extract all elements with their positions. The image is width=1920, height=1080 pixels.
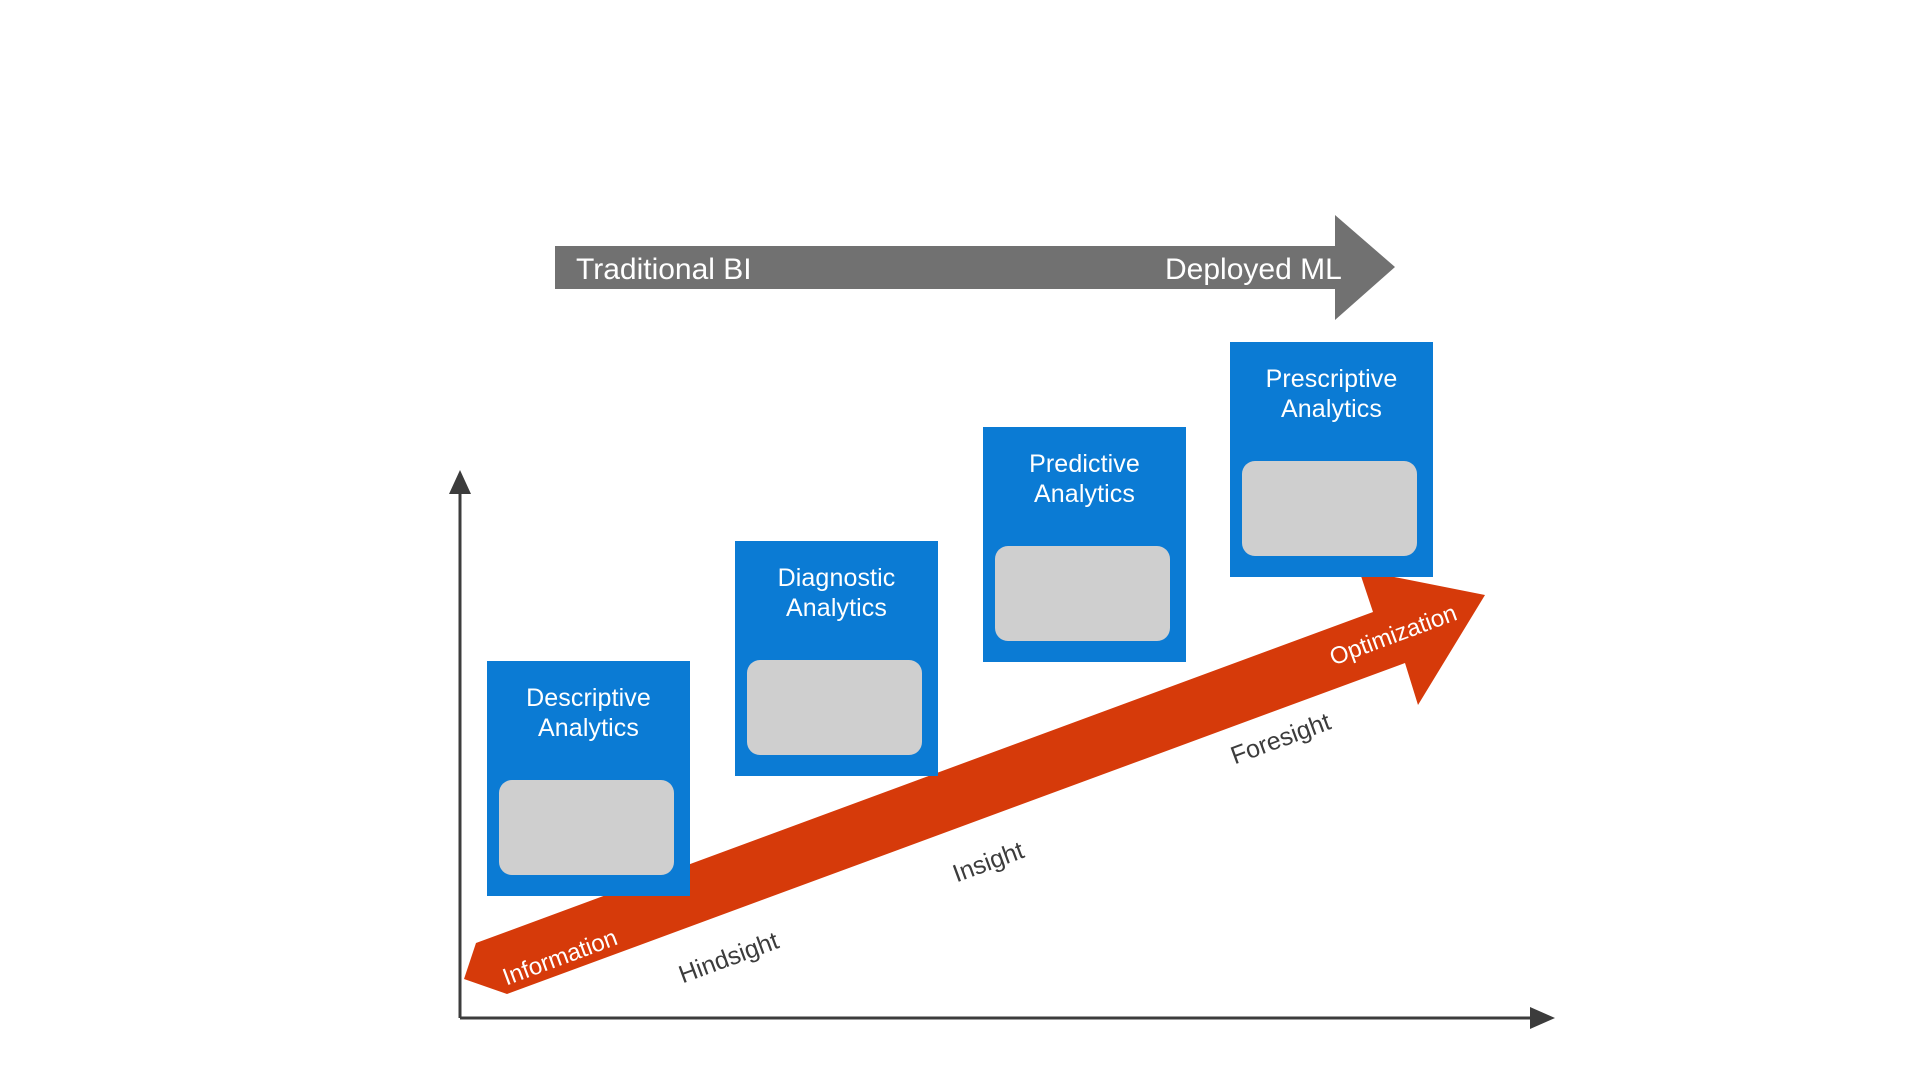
stage-box-predictive[interactable]: Predictive Analytics xyxy=(983,427,1186,662)
stage-title-diagnostic: Diagnostic Analytics xyxy=(735,563,938,623)
stage-image-placeholder-predictive xyxy=(995,546,1170,641)
stage-box-descriptive[interactable]: Descriptive Analytics xyxy=(487,661,690,896)
right-arrow-icon xyxy=(1530,1007,1555,1029)
stage-image-placeholder-prescriptive xyxy=(1242,461,1417,556)
traditional-bi-label: Traditional BI xyxy=(576,253,752,287)
up-arrow-icon xyxy=(449,470,471,494)
stage-box-diagnostic[interactable]: Diagnostic Analytics xyxy=(735,541,938,776)
stage-title-predictive: Predictive Analytics xyxy=(983,449,1186,509)
stage-title-prescriptive: Prescriptive Analytics xyxy=(1230,364,1433,424)
diagram-canvas: Traditional BI Deployed ML Information O… xyxy=(0,0,1920,1080)
deployed-ml-label: Deployed ML xyxy=(1165,253,1342,287)
stage-title-descriptive: Descriptive Analytics xyxy=(487,683,690,743)
stage-image-placeholder-diagnostic xyxy=(747,660,922,755)
stage-box-prescriptive[interactable]: Prescriptive Analytics xyxy=(1230,342,1433,577)
stage-image-placeholder-descriptive xyxy=(499,780,674,875)
